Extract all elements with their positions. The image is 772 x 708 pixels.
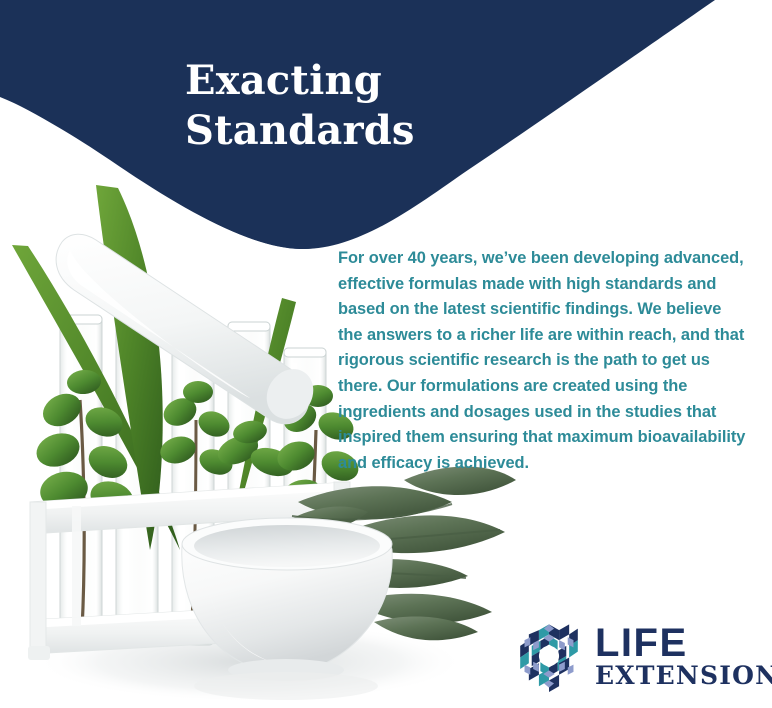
body-paragraph: For over 40 years, we’ve been developing… [338, 246, 750, 476]
logo-extension-text: EXTENSION [595, 663, 772, 689]
mortar-bowl [182, 518, 392, 681]
life-extension-hexagon-mandala-icon [513, 620, 585, 692]
test-tube-group [60, 305, 326, 645]
plant-sprigs [12, 185, 363, 640]
page-title-line-2: Standards [185, 106, 625, 156]
page-title: Exacting Standards [185, 56, 625, 156]
life-extension-logo[interactable]: LIFE EXTENSION ® [513, 617, 758, 695]
pestle [56, 234, 322, 428]
page-title-line-1: Exacting [185, 56, 625, 106]
test-tube-rack [28, 482, 352, 660]
dark-leaves [268, 467, 516, 641]
logo-wordmark: LIFE EXTENSION ® [595, 624, 772, 689]
promo-banner-canvas: Exacting Standards For over 40 years, we… [0, 0, 772, 708]
logo-life-text: LIFE [595, 624, 772, 662]
